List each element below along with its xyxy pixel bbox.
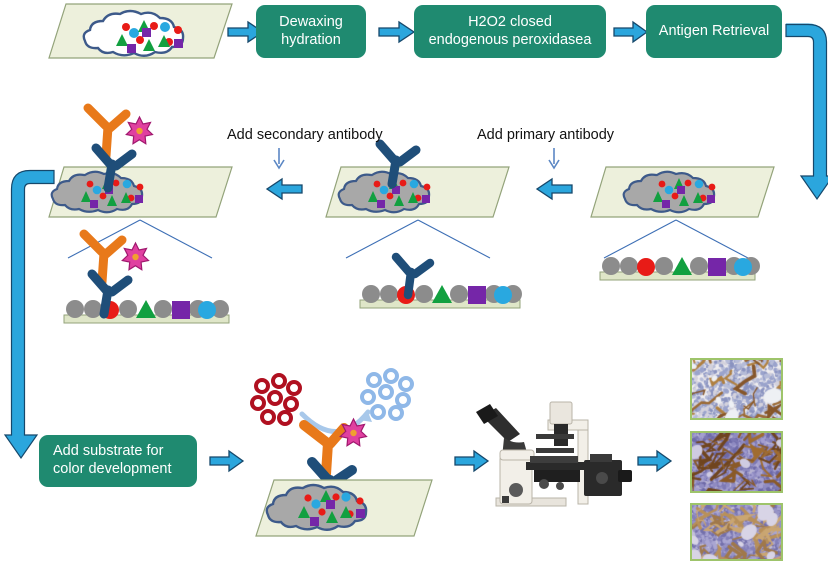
arrow-down-icon-secondary [272, 148, 286, 170]
substrate-chromogen-icon [252, 375, 300, 424]
antibody-sandwich-strip-left [78, 228, 158, 320]
primary-antibody-icon-strip-middle [388, 252, 443, 300]
step-substrate-line2: color development [53, 461, 172, 477]
arrow-down-icon-primary [547, 148, 561, 170]
arrow-right-icon-4 [210, 449, 244, 473]
ihc-micrograph-3 [690, 503, 783, 561]
arrow-right-icon-3 [614, 20, 648, 44]
tissue-slide-untreated [48, 2, 233, 62]
antibody-sandwich-slide-left [82, 100, 162, 195]
hrp-enzyme-icon [340, 419, 366, 446]
label-add-primary-antibody: Add primary antibody [477, 127, 614, 143]
hrp-enzyme-icon [126, 117, 152, 144]
arrow-left-icon-1 [536, 177, 572, 201]
target-antigen-red [637, 258, 655, 276]
step-h2o2-line2: endogenous peroxidasea [429, 32, 592, 48]
microscope-icon [474, 398, 634, 516]
step-substrate-line1: Add substrate for [53, 443, 163, 459]
step-antigen-retrieval-label: Antigen Retrieval [659, 23, 769, 41]
arrow-left-icon-2 [266, 177, 302, 201]
step-h2o2-label: H2O2 closed endogenous peroxidasea [429, 14, 592, 50]
tissue-slide-antigen-retrieved [590, 165, 775, 220]
label-add-secondary-antibody: Add secondary antibody [227, 127, 383, 143]
step-dewaxing-hydration[interactable]: Dewaxing hydration [256, 5, 366, 58]
step-dewaxing-line1: Dewaxing [279, 14, 343, 30]
step-add-substrate[interactable]: Add substrate for color development [39, 435, 197, 487]
primary-antibody-icon-slide [370, 138, 430, 188]
arrow-right-icon-6 [638, 449, 672, 473]
elbow-arrow-icon-right [784, 24, 828, 202]
step-dewaxing-label: Dewaxing hydration [279, 14, 343, 50]
primary-antibody-icon [92, 274, 128, 314]
arrow-right-icon-2 [379, 20, 415, 44]
step-dewaxing-line2: hydration [281, 32, 341, 48]
antigen-strip-right [598, 252, 758, 282]
step-h2o2-line1: H2O2 closed [468, 14, 552, 30]
step-h2o2-peroxidase[interactable]: H2O2 closed endogenous peroxidasea [414, 5, 606, 58]
substrate-color-reaction [246, 370, 436, 545]
ihc-micrograph-1 [690, 358, 783, 420]
ihc-micrograph-2 [690, 431, 783, 493]
step-antigen-retrieval[interactable]: Antigen Retrieval [646, 5, 782, 58]
elbow-arrow-icon-left [2, 170, 50, 470]
primary-antibody-icon [96, 148, 132, 188]
step-substrate-label: Add substrate for color development [53, 443, 172, 479]
hrp-enzyme-icon [122, 243, 148, 270]
